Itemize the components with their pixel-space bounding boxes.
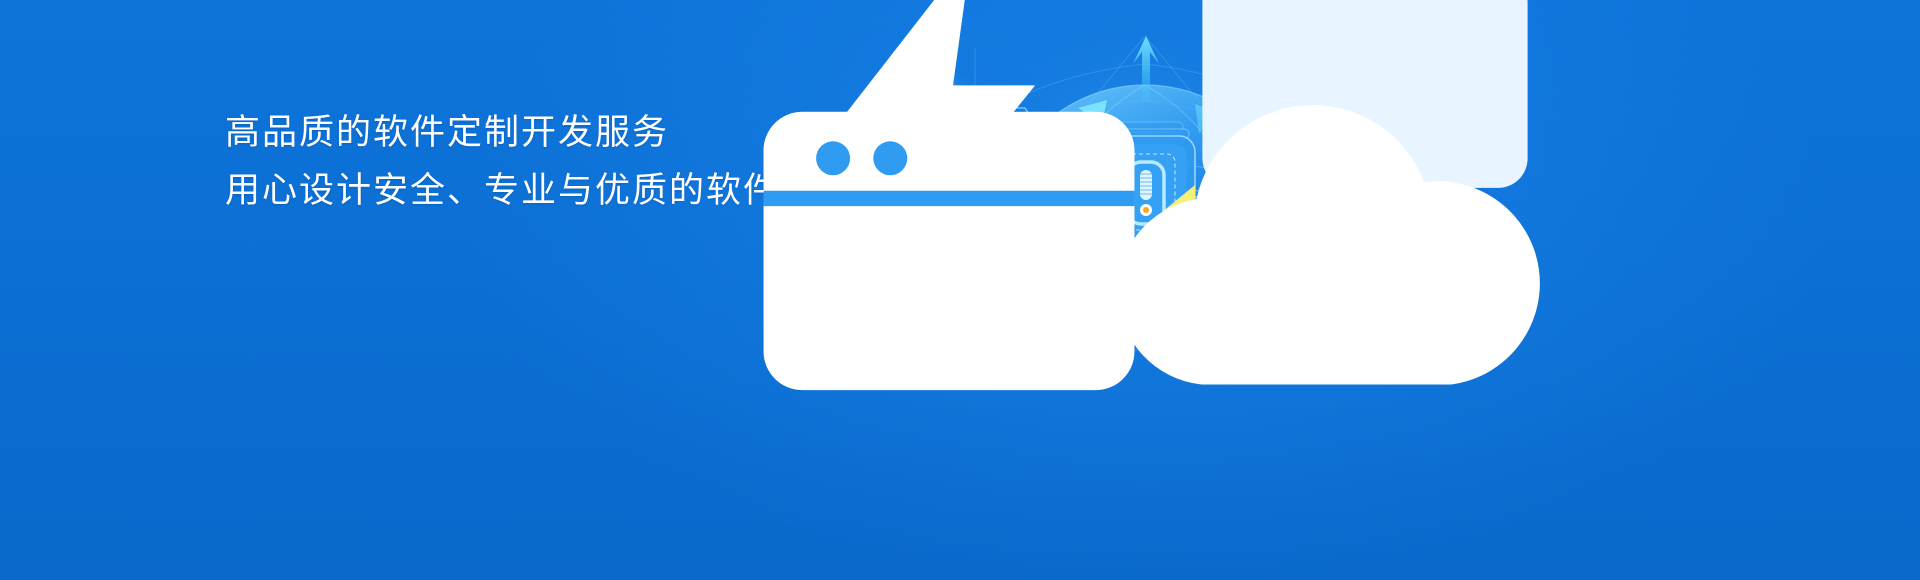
browser-window-badge[interactable] xyxy=(920,222,978,280)
badge-inner xyxy=(920,222,978,280)
cloud-icon xyxy=(1019,70,1639,410)
hero-illustration: 6折 xyxy=(845,30,1465,370)
cloud-badge[interactable] xyxy=(1298,209,1360,271)
hero-banner: 高品质的软件定制开发服务 用心设计安全、专业与优质的软件 xyxy=(0,0,1920,580)
badge-inner xyxy=(1298,209,1360,271)
